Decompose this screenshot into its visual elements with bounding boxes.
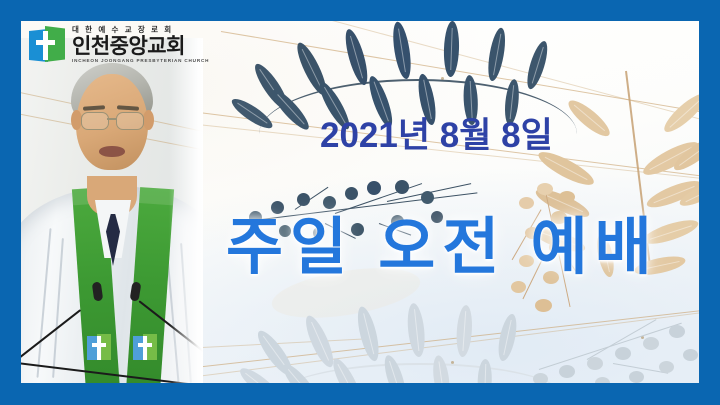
church-logo: 대 한 예 수 교 장 로 회 인천중앙교회 INCHEON JOONGANG …: [29, 26, 209, 64]
ear-right: [143, 110, 154, 130]
leaf: [564, 95, 614, 141]
title-card-stage: 대 한 예 수 교 장 로 회 인천중앙교회 INCHEON JOONGANG …: [0, 0, 720, 405]
leaf: [405, 302, 427, 357]
pastor-photo: [21, 38, 203, 383]
berry: [587, 357, 603, 370]
berry: [659, 361, 674, 373]
frame-border-right: [699, 0, 720, 405]
leaf: [341, 27, 371, 87]
card-canvas: 대 한 예 수 교 장 로 회 인천중앙교회 INCHEON JOONGANG …: [21, 21, 699, 383]
frame-border-bottom: [0, 383, 720, 405]
leaf: [495, 312, 520, 362]
church-logo-text: 대 한 예 수 교 장 로 회 인천중앙교회 INCHEON JOONGANG …: [72, 26, 209, 64]
eyeglasses-bridge: [107, 118, 116, 120]
leaf: [443, 21, 460, 77]
denomination-label: 대 한 예 수 교 장 로 회: [72, 26, 209, 34]
berry: [669, 325, 685, 338]
cross-emblem-right: [133, 334, 157, 362]
leaf: [523, 39, 551, 91]
berry: [629, 371, 644, 383]
berry-branch-gray: [533, 317, 699, 383]
bottom-leaf-branch: [275, 305, 565, 383]
berry: [643, 337, 659, 350]
leaf: [477, 359, 492, 383]
leaf: [354, 305, 383, 363]
berry: [559, 365, 575, 378]
berry: [683, 349, 698, 361]
branch-stem: [275, 363, 565, 383]
eyeglasses-left-lens: [81, 112, 109, 130]
leaf: [660, 89, 699, 137]
frame-border-left: [0, 0, 21, 405]
mouth: [99, 146, 125, 157]
frame-border-top: [0, 0, 720, 21]
photo-edge-fade: [169, 38, 203, 383]
church-name-label: 인천중앙교회: [72, 36, 209, 57]
berry: [537, 183, 553, 195]
leaf: [390, 21, 414, 80]
eyeglasses-right-lens: [116, 112, 144, 130]
service-title: 주일 오전 예배: [226, 196, 659, 286]
berry: [533, 373, 548, 383]
leaf: [485, 27, 508, 83]
open-door-cross-emblem-icon: [29, 26, 65, 64]
cross-emblem-left: [87, 334, 111, 362]
service-date: 2021년 8월 8일: [320, 107, 553, 158]
berry: [395, 180, 409, 194]
leaf: [455, 305, 474, 358]
berry: [367, 181, 381, 195]
church-romanized-label: INCHEON JOONGANG PRESBYTERIAN CHURCH: [72, 59, 209, 64]
berry: [615, 347, 631, 360]
